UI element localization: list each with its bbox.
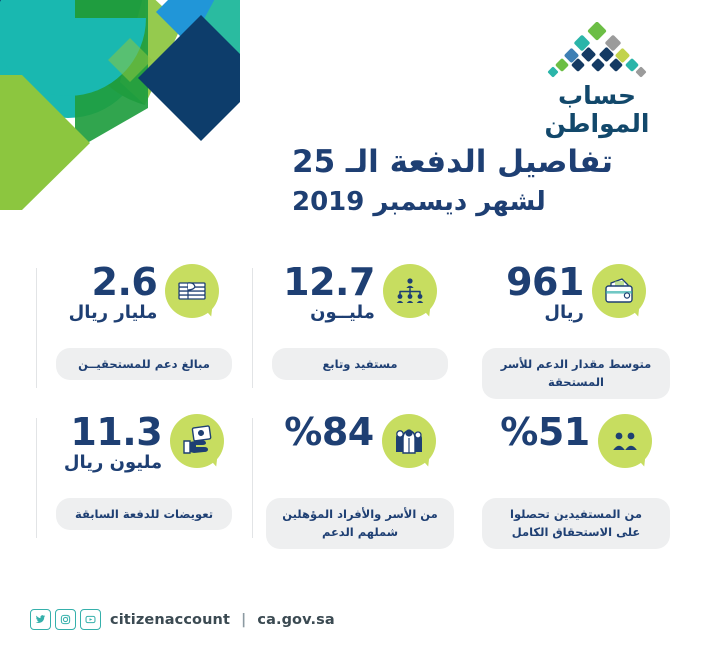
stat-headline: 961 ريال: [506, 262, 646, 340]
title-line-secondary: لشهر ديسمبر 2019: [292, 186, 692, 220]
brand-logo: حساب المواطن: [502, 22, 692, 137]
stat-headline: 11.3 مليون ريال: [64, 412, 224, 490]
stat-card-total-support-amounts: 2.6 مليار ريال مبالغ دعم للمستحقيــن: [36, 262, 252, 412]
twitter-icon[interactable]: [30, 609, 51, 630]
stat-headline: %51: [500, 412, 651, 490]
page-title: تفاصيل الدفعة الـ 25 لشهر ديسمبر 2019: [292, 143, 692, 220]
stat-value: 2.6: [69, 264, 158, 301]
stat-card-eligible-covered-percentage: %84 من الأسر والأفراد المؤهلين شملهم الد…: [252, 412, 468, 562]
instagram-icon[interactable]: [55, 609, 76, 630]
social-links: [30, 609, 101, 630]
infographic-page: حساب المواطن تفاصيل الدفعة الـ 25 لشهر د…: [0, 0, 720, 652]
stat-figures: %51: [500, 412, 589, 452]
logo-text: حساب المواطن: [502, 82, 692, 137]
stat-card-previous-payment-compensation: 11.3 مليون ريال تعويضات للدفعة السابقة: [36, 412, 252, 562]
stat-value: 11.3: [64, 414, 162, 451]
money-stack-icon: [165, 264, 219, 318]
stat-card-average-support-amount: 961 ريال متوسط مقدار الدعم للأسر المستحق…: [468, 262, 684, 412]
stat-headline: 12.7 مليــون: [283, 262, 437, 340]
stat-label: متوسط مقدار الدعم للأسر المستحقة: [482, 348, 670, 399]
stat-value: 961: [506, 264, 584, 301]
hand-money-icon: [170, 414, 224, 468]
stat-figures: 12.7 مليــون: [283, 262, 375, 325]
decorative-geometric-pattern: [0, 0, 240, 210]
footer-handle[interactable]: citizenaccount: [110, 612, 230, 628]
family-tree-icon: [383, 264, 437, 318]
stat-figures: 961 ريال: [506, 262, 584, 325]
stat-card-beneficiaries-and-dependents: 12.7 مليــون مستفيد وتابع: [252, 262, 468, 412]
stat-figures: %84: [284, 412, 373, 452]
footer-website[interactable]: ca.gov.sa: [257, 612, 334, 628]
stat-unit: مليــون: [283, 302, 375, 325]
footer: citizenaccount | ca.gov.sa: [30, 609, 335, 630]
chevron-squares-mark: [543, 22, 651, 78]
stat-label: مستفيد وتابع: [272, 348, 448, 380]
stat-unit: مليون ريال: [64, 452, 162, 475]
stat-value: 12.7: [283, 264, 375, 301]
wallet-icon: [592, 264, 646, 318]
youtube-icon[interactable]: [80, 609, 101, 630]
footer-separator: |: [239, 612, 248, 628]
stats-grid: 961 ريال متوسط مقدار الدعم للأسر المستحق…: [36, 262, 684, 562]
stat-value: %84: [284, 414, 373, 451]
family-group-icon: [382, 414, 436, 468]
stat-unit: مليار ريال: [69, 302, 158, 325]
title-line-primary: تفاصيل الدفعة الـ 25: [292, 143, 692, 182]
stat-card-full-entitlement-percentage: %51 من المستفيدين تحصلوا على الاستحقاق ا…: [468, 412, 684, 562]
stat-label: مبالغ دعم للمستحقيــن: [56, 348, 232, 380]
two-people-icon: [598, 414, 652, 468]
stat-headline: 2.6 مليار ريال: [69, 262, 220, 340]
stat-label: تعويضات للدفعة السابقة: [56, 498, 232, 530]
stat-figures: 2.6 مليار ريال: [69, 262, 158, 325]
stat-headline: %84: [284, 412, 435, 490]
stat-value: %51: [500, 414, 589, 451]
stat-figures: 11.3 مليون ريال: [64, 412, 162, 475]
stat-unit: ريال: [506, 302, 584, 325]
stat-label: من المستفيدين تحصلوا على الاستحقاق الكام…: [482, 498, 670, 549]
stat-label: من الأسر والأفراد المؤهلين شملهم الدعم: [266, 498, 454, 549]
